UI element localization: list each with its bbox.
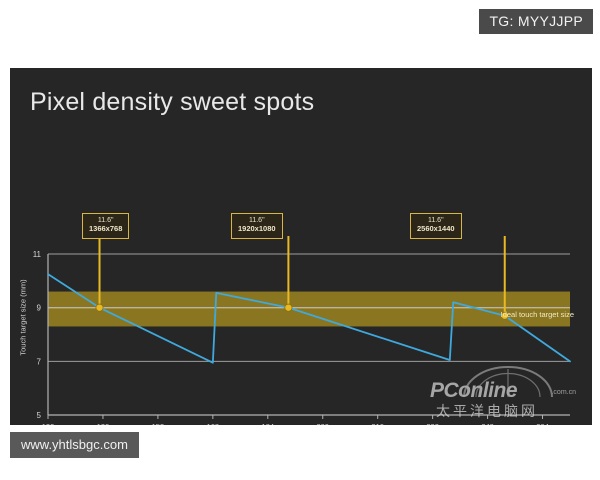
x-axis-ticks: 120136152168184200216232248264 [42,415,549,425]
callout-resolution: 2560x1440 [417,225,455,234]
svg-text:184: 184 [262,422,275,425]
svg-text:168: 168 [207,422,220,425]
line-chart: 120136152168184200216232248264 57911 [10,68,592,425]
svg-text:216: 216 [371,422,384,425]
callout-resolution: 1366x768 [89,225,122,234]
chart-container: 120136152168184200216232248264 57911 [10,68,592,425]
svg-text:7: 7 [37,357,42,366]
callout-resolution: 1920x1080 [238,225,276,234]
callout-box-2560x1440[interactable]: 11.6" 2560x1440 [410,213,462,239]
svg-text:136: 136 [97,422,110,425]
svg-text:11: 11 [33,250,42,259]
ideal-band-label: Ideal touch target size [501,310,574,319]
svg-text:200: 200 [316,422,329,425]
svg-text:248: 248 [481,422,494,425]
svg-text:264: 264 [536,422,549,425]
callout-box-1366x768[interactable]: 11.6" 1366x768 [82,213,129,239]
svg-text:152: 152 [152,422,165,425]
svg-text:5: 5 [37,411,42,420]
tg-watermark-banner: TG: MYYJJPP [479,9,593,34]
url-watermark-banner: www.yhtlsbgc.com [10,432,139,458]
svg-text:232: 232 [426,422,439,425]
callout-box-1920x1080[interactable]: 11.6" 1920x1080 [231,213,283,239]
y-axis-title: Touch target size (mm) [19,263,28,373]
presentation-slide: Pixel density sweet spots 12013615216818… [10,68,592,425]
svg-text:9: 9 [37,304,42,313]
plot-background [48,254,570,415]
svg-text:120: 120 [42,422,55,425]
y-axis-ticks: 57911 [33,250,42,420]
